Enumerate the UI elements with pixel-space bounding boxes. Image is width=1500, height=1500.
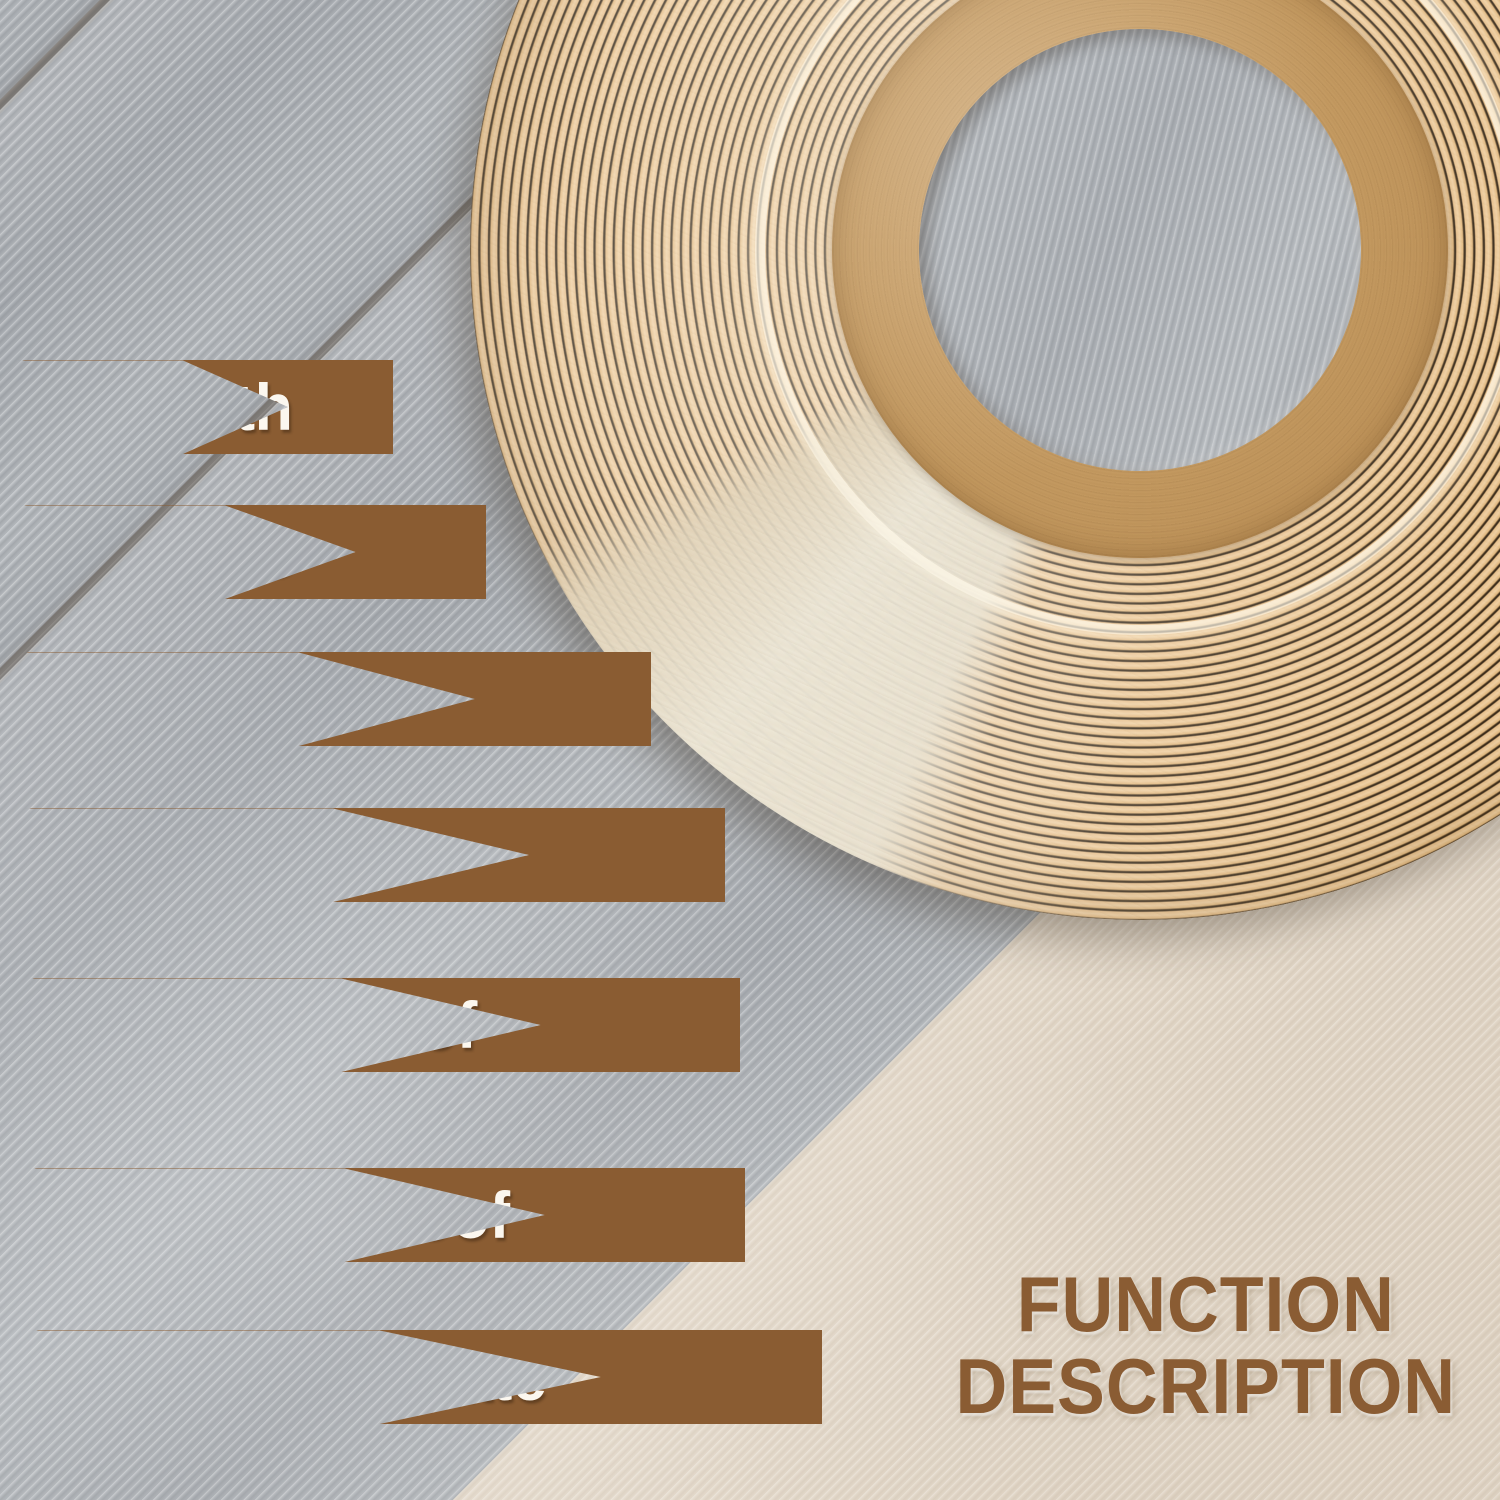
feature-banner-easy-to-operate: Easy to Operate bbox=[32, 1330, 822, 1424]
feature-banner-scratch-proof: Scratch-proof bbox=[28, 978, 740, 1072]
heading-line-2: DESCRIPTION bbox=[955, 1345, 1456, 1428]
feature-label: Beautiful bbox=[66, 666, 330, 732]
feature-banner-moisture-proof: Moisture-proof bbox=[30, 1168, 745, 1262]
feature-label: Easy to Operate bbox=[76, 1344, 546, 1410]
feature-label: Smooth bbox=[62, 374, 293, 440]
product-image-canvas: Smooth Durable Beautiful Dust-proof Scra… bbox=[0, 0, 1500, 1500]
feature-label: Dust-proof bbox=[69, 822, 385, 888]
feature-banner-beautiful: Beautiful bbox=[22, 652, 651, 746]
function-description-heading: FUNCTION DESCRIPTION bbox=[912, 1263, 1456, 1428]
feature-banner-dust-proof: Dust-proof bbox=[25, 808, 725, 902]
feature-banner-smooth: Smooth bbox=[18, 360, 393, 454]
feature-banner-durable: Durable bbox=[20, 505, 486, 599]
feature-label: Moisture-proof bbox=[74, 1182, 510, 1248]
feature-label: Durable bbox=[64, 519, 294, 585]
feature-label: Scratch-proof bbox=[72, 992, 477, 1058]
heading-line-1: FUNCTION bbox=[955, 1263, 1456, 1346]
